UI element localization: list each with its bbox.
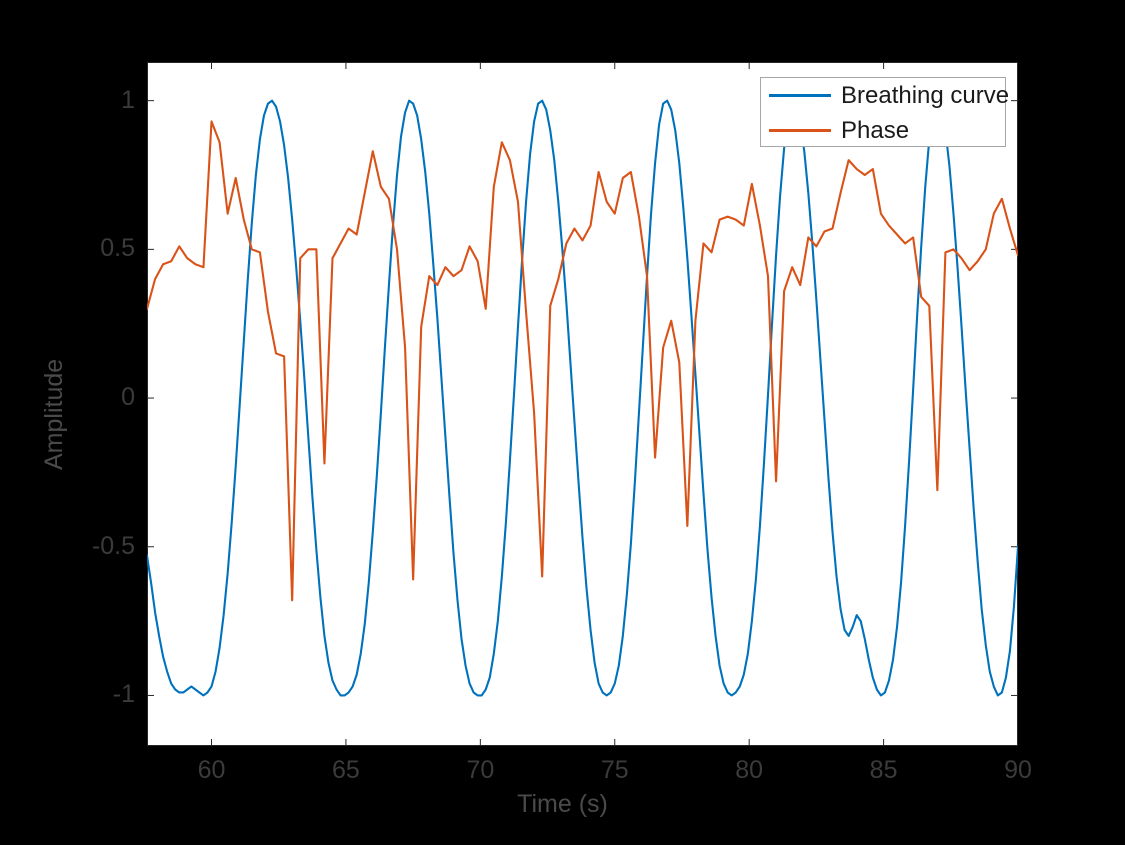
legend-label-phase: Phase bbox=[841, 119, 909, 143]
x-tick-label: 65 bbox=[296, 758, 396, 783]
y-tick-label: -1 bbox=[60, 682, 135, 707]
legend-item-breathing-curve[interactable]: Breathing curve bbox=[761, 78, 1005, 113]
y-tick-label: 1 bbox=[60, 88, 135, 113]
legend-swatch-phase bbox=[769, 129, 831, 132]
y-tick-label: -0.5 bbox=[60, 534, 135, 559]
data-series-group bbox=[147, 101, 1018, 696]
legend-box[interactable]: Breathing curve Phase bbox=[760, 77, 1006, 147]
plot-area bbox=[147, 62, 1018, 746]
y-tick-label: 0 bbox=[60, 385, 135, 410]
legend-item-phase[interactable]: Phase bbox=[761, 113, 1005, 148]
y-tick-label: 0.5 bbox=[60, 236, 135, 261]
x-tick-label: 75 bbox=[565, 758, 665, 783]
chart-svg bbox=[147, 62, 1018, 746]
x-tick-label: 90 bbox=[968, 758, 1068, 783]
legend-label-breathing-curve: Breathing curve bbox=[841, 84, 1009, 108]
x-tick-label: 60 bbox=[162, 758, 262, 783]
x-tick-label: 80 bbox=[699, 758, 799, 783]
x-axis-label: Time (s) bbox=[0, 790, 1125, 819]
tick-marks bbox=[147, 62, 1018, 746]
series-line-breathing-curve bbox=[147, 101, 1018, 696]
y-axis-label: Amplitude bbox=[40, 359, 69, 470]
x-tick-label: 85 bbox=[834, 758, 934, 783]
legend-swatch-breathing-curve bbox=[769, 94, 831, 97]
axes-border bbox=[148, 63, 1018, 746]
x-tick-label: 70 bbox=[430, 758, 530, 783]
figure-canvas: -1-0.500.51 60657075808590 Amplitude Tim… bbox=[0, 0, 1125, 845]
